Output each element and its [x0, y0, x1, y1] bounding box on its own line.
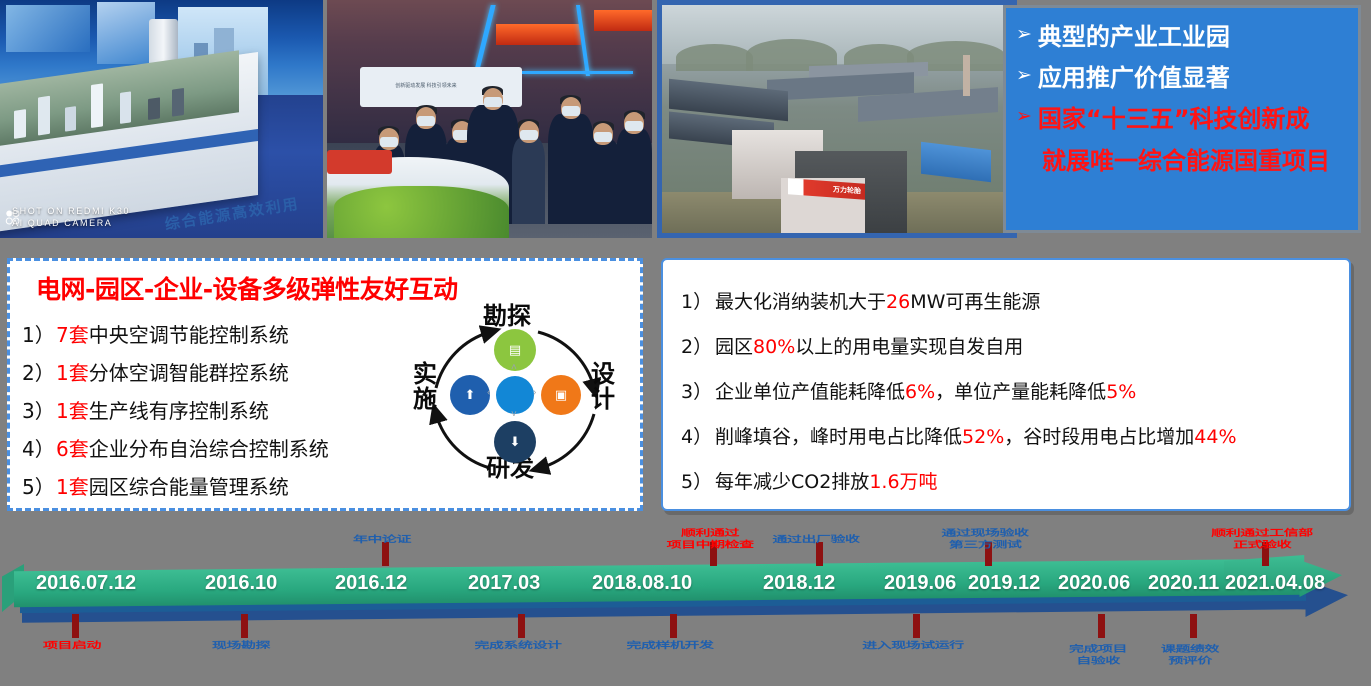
milestone-line: 第三方测试 [925, 539, 1045, 551]
cycle-label-right: 设计 [590, 362, 616, 412]
bullet-arrow-icon: ➢ [1016, 22, 1032, 48]
factory-banner-text: 万力轮胎 [833, 184, 861, 196]
model-red-structures [327, 150, 392, 174]
list-item: 1） 7套 中央空调节能控制系统 [22, 316, 382, 354]
milestone-line: 通过现场验收 [925, 527, 1045, 539]
item-text: 园区综合能量管理系统 [89, 468, 289, 506]
slide-canvas: 综合能源高效利用 SHOT ON REDMI K30 AI QUAD CAMER… [0, 0, 1371, 686]
chevron-right-icon: › [533, 387, 536, 398]
timeline-milestone-label: 通过出厂验收 [756, 533, 876, 545]
item-count: 1套 [56, 354, 89, 392]
list-item: 4） 削峰填谷，峰时用电占比降低 52% ，谷时段用电占比增加 44% [681, 415, 1339, 460]
timeline-date: 2019.06 [884, 572, 956, 595]
cycle-label-top: 勘探 [483, 304, 531, 329]
list-item: 5） 每年减少CO2排放 1.6万吨 [681, 460, 1339, 505]
timeline-date: 2019.12 [968, 572, 1040, 595]
neon-strip-3 [522, 71, 633, 74]
person [512, 138, 545, 224]
timeline-date: 2018.08.10 [592, 572, 692, 595]
camera-watermark: SHOT ON REDMI K30 AI QUAD CAMERA [12, 205, 130, 229]
timeline-tick [670, 614, 677, 638]
chimney-stack [963, 55, 970, 96]
timeline-milestone-label: 顺利通过项目中期检查 [650, 527, 770, 551]
timeline-tick [1190, 614, 1197, 638]
list-item: 2） 1套 分体空调智能群控系统 [22, 354, 382, 392]
highlights-callout: ➢ 典型的产业工业园 ➢ 应用推广价值显著 ➢ 国家“十三五”科技创新成 就展唯… [1003, 5, 1361, 233]
timeline-date: 2021.04.08 [1225, 572, 1325, 595]
timeline-date: 2020.11 [1148, 572, 1219, 595]
milestone-line: 课题绩效 [1130, 643, 1250, 655]
milestone-line: 预评价 [1130, 655, 1250, 667]
download-node-icon: ⬇ [494, 421, 536, 463]
timeline-tick [816, 542, 823, 566]
item-number: 3） [22, 392, 56, 430]
person [616, 129, 652, 224]
upload-node-icon: ⬆ [450, 375, 490, 415]
item-text: 生产线有序控制系统 [89, 392, 269, 430]
exhibit-wall-text: 创新驱动发展 科技引领未来 [395, 82, 456, 89]
item-highlight: 6% [905, 370, 935, 415]
item-number: 4） [22, 430, 56, 468]
lifecycle-diagram: 勘探 设计 研发 实施 ▤ ▣ ⬇ ⬆ ˄ ˅ ‹ › [390, 296, 640, 501]
timeline-tick [382, 542, 389, 566]
watermark-line-1: SHOT ON REDMI K30 [12, 205, 130, 217]
item-count: 6套 [56, 430, 89, 468]
model-greenery [334, 186, 510, 238]
milestone-line: 年中论证 [322, 533, 442, 545]
item-highlight: 44% [1194, 415, 1236, 460]
chevron-left-icon: ‹ [487, 387, 490, 398]
item-count: 7套 [56, 316, 89, 354]
callout-text-1: 典型的产业工业园 [1038, 22, 1230, 52]
callout-line-2: ➢ 应用推广价值显著 [1016, 63, 1348, 93]
cycle-label-left: 实施 [412, 362, 438, 412]
item-text: 最大化消纳装机大于 [715, 280, 886, 325]
booth-panel-b [97, 2, 155, 64]
milestone-line: 通过出厂验收 [756, 533, 876, 545]
project-timeline: 2016.07.122016.102016.122017.032018.08.1… [0, 520, 1371, 686]
timeline-date: 2016.12 [335, 572, 407, 595]
hill [676, 44, 753, 71]
milestone-line: 现场勘探 [181, 639, 301, 651]
left-panel-list: 1） 7套 中央空调节能控制系统 2） 1套 分体空调智能群控系统 3） 1套 … [22, 316, 382, 506]
camera-node-icon: ▣ [541, 375, 581, 415]
exhibition-booth-photo: 综合能源高效利用 SHOT ON REDMI K30 AI QUAD CAMER… [0, 0, 323, 238]
callout-text-3-cont: 就展唯一综合能源国重项目 [1042, 145, 1348, 177]
timeline-date: 2016.07.12 [36, 572, 136, 595]
item-count: 1套 [56, 468, 89, 506]
timeline-tick [241, 614, 248, 638]
item-text: 企业分布自治综合控制系统 [89, 430, 329, 468]
timeline-milestone-label: 完成系统设计 [458, 639, 578, 651]
right-metrics-panel: 1） 最大化消纳装机大于 26 MW可再生能源 2） 园区 80% 以上的用电量… [661, 258, 1351, 511]
timeline-date: 2017.03 [468, 572, 540, 595]
milestone-line: 进入现场试运行 [853, 639, 973, 651]
milestone-line: 项目启动 [12, 639, 132, 651]
timeline-tick [72, 614, 79, 638]
list-item: 1） 最大化消纳装机大于 26 MW可再生能源 [681, 280, 1339, 325]
list-item: 3） 1套 生产线有序控制系统 [22, 392, 382, 430]
list-item: 2） 园区 80% 以上的用电量实现自发自用 [681, 325, 1339, 370]
timeline-milestone-label: 项目启动 [12, 639, 132, 651]
timeline-tick [518, 614, 525, 638]
item-text: ，单位产量能耗降低 [935, 370, 1106, 415]
item-highlight: 52% [962, 415, 1004, 460]
timeline-milestone-label: 通过现场验收第三方测试 [925, 527, 1045, 551]
list-item: 5） 1套 园区综合能量管理系统 [22, 468, 382, 506]
item-number: 5） [681, 460, 715, 505]
callout-text-3: 国家“十三五”科技创新成 [1038, 104, 1310, 134]
bullet-arrow-icon: ➢ [1016, 104, 1032, 130]
item-text: 中央空调节能控制系统 [89, 316, 289, 354]
item-number: 1） [681, 280, 715, 325]
item-text: MW可再生能源 [910, 280, 1040, 325]
timeline-milestone-label: 完成样机开发 [610, 639, 730, 651]
list-item: 4） 6套 企业分布自治综合控制系统 [22, 430, 382, 468]
item-count: 1套 [56, 392, 89, 430]
timeline-date: 2020.06 [1058, 572, 1130, 595]
timeline-milestone-label: 现场勘探 [181, 639, 301, 651]
timeline-milestone-label: 进入现场试运行 [853, 639, 973, 651]
item-number: 4） [681, 415, 715, 460]
person [587, 140, 620, 223]
item-text: 以上的用电量实现自发自用 [795, 325, 1023, 370]
milestone-line: 顺利通过 [650, 527, 770, 539]
item-text: 分体空调智能群控系统 [89, 354, 289, 392]
item-highlight: 1.6万吨 [869, 460, 937, 505]
timeline-milestone-label: 顺利通过工信部正式验收 [1202, 527, 1322, 551]
watermark-line-2: AI QUAD CAMERA [12, 217, 130, 229]
item-highlight: 80% [753, 325, 795, 370]
right-panel-list: 1） 最大化消纳装机大于 26 MW可再生能源 2） 园区 80% 以上的用电量… [681, 280, 1339, 505]
item-text: 园区 [715, 325, 753, 370]
callout-text-2: 应用推广价值显著 [1038, 63, 1230, 93]
milestone-line: 完成系统设计 [458, 639, 578, 651]
item-text: 削峰填谷，峰时用电占比降低 [715, 415, 962, 460]
timeline-milestone-label: 年中论证 [322, 533, 442, 545]
item-number: 5） [22, 468, 56, 506]
chevron-up-icon: ˄ [511, 362, 517, 373]
item-number: 2） [22, 354, 56, 392]
chevron-down-icon: ˅ [511, 409, 517, 420]
list-item: 3） 企业单位产值能耗降低 6% ，单位产量能耗降低 5% [681, 370, 1339, 415]
item-number: 2） [681, 325, 715, 370]
blue-roof-building [921, 142, 991, 183]
milestone-line: 项目中期检查 [650, 539, 770, 551]
item-text: 企业单位产值能耗降低 [715, 370, 905, 415]
timeline-date: 2016.10 [205, 572, 277, 595]
aerial-factory-photo: 万力轮胎 [657, 0, 1017, 238]
bullet-arrow-icon: ➢ [1016, 63, 1032, 89]
item-highlight: 5% [1106, 370, 1136, 415]
milestone-line: 顺利通过工信部 [1202, 527, 1322, 539]
milestone-line: 完成样机开发 [610, 639, 730, 651]
leaders-visit-photo: 创新驱动发展 科技引领未来 [327, 0, 652, 238]
led-screen-1 [496, 24, 581, 45]
item-text: ，谷时段用电占比增加 [1004, 415, 1194, 460]
timeline-date: 2018.12 [763, 572, 835, 595]
item-text: 每年减少CO2排放 [715, 460, 869, 505]
booth-panel-a [6, 5, 90, 53]
timeline-tick [913, 614, 920, 638]
callout-line-1: ➢ 典型的产业工业园 [1016, 22, 1348, 52]
item-number: 3） [681, 370, 715, 415]
timeline-milestone-label: 课题绩效预评价 [1130, 643, 1250, 667]
led-screen-2 [594, 10, 653, 31]
callout-line-3: ➢ 国家“十三五”科技创新成 [1016, 104, 1348, 134]
item-number: 1） [22, 316, 56, 354]
milestone-line: 正式验收 [1202, 539, 1322, 551]
timeline-tick [1098, 614, 1105, 638]
item-highlight: 26 [886, 280, 910, 325]
